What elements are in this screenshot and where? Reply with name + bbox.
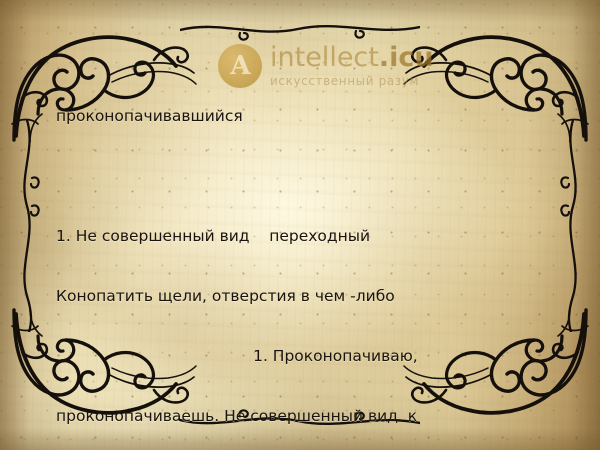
definition-line: проконопачиваешь. Не совершенный вид к — [56, 406, 548, 426]
slide-body-text: проконопачивавшийся 1. Не совершенный ви… — [56, 66, 548, 450]
headword: проконопачивавшийся — [56, 106, 548, 126]
slide-canvas: A intellect.icu искусственный разум прок… — [0, 0, 600, 450]
definition-line: Конопатить щели, отверстия в чем -либо — [56, 286, 548, 306]
spacer-line — [56, 166, 548, 186]
definition-line: 1. Проконопачиваю, — [56, 346, 548, 366]
definition-line: 1. Не совершенный вид переходный — [56, 226, 548, 246]
